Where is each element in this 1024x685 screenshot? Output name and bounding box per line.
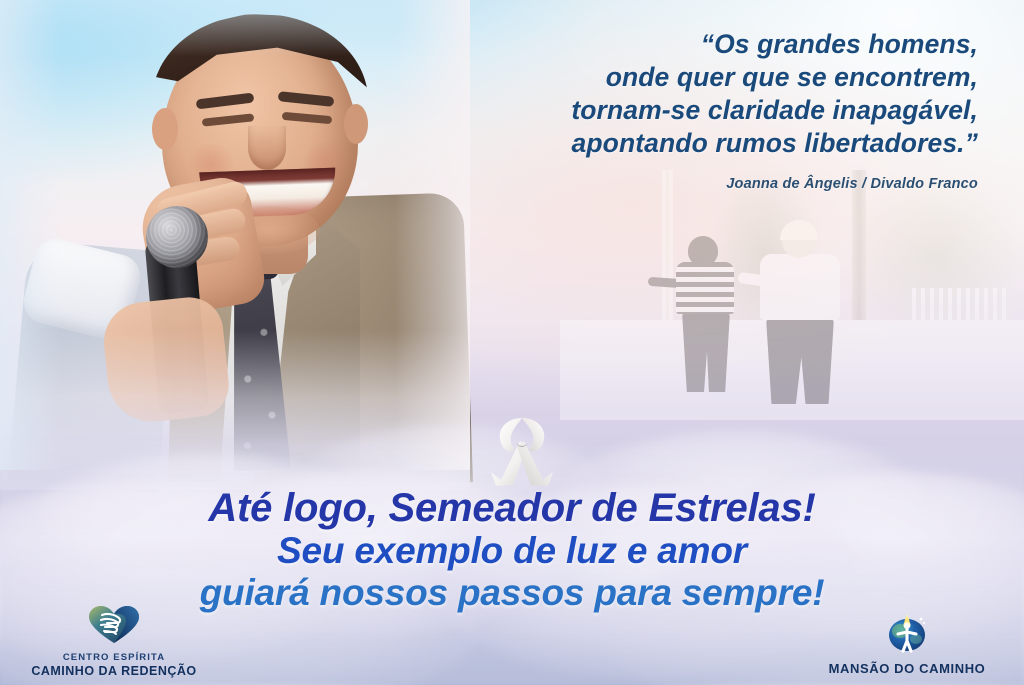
logo-centro-espirita-caminho-da-redencao[interactable]: CENTRO ESPÍRITA CAMINHO DA REDENÇÃO (14, 606, 214, 679)
headline-line-1: Até logo, Semeador de Estrelas! (0, 486, 1024, 530)
fence-icon (912, 288, 1010, 336)
white-ribbon-icon (489, 414, 555, 488)
logo-left-line-1: CENTRO ESPÍRITA (14, 652, 214, 664)
adult-figure-torso (760, 254, 840, 320)
quote-line-1: “Os grandes homens, (398, 28, 978, 61)
quote-line-4: apontando rumos libertadores.” (398, 127, 978, 160)
logo-mansao-do-caminho[interactable]: MANSÃO DO CAMINHO (802, 611, 1012, 677)
memorial-poster: “Os grandes homens, onde quer que se enc… (0, 0, 1024, 685)
globe-figure-icon (802, 611, 1012, 658)
quote-block: “Os grandes homens, onde quer que se enc… (398, 28, 978, 192)
quote-line-3: tornam-se claridade inapagável, (398, 94, 978, 127)
quote-line-2: onde quer que se encontrem, (398, 61, 978, 94)
logo-left-line-2: CAMINHO DA REDENÇÃO (14, 664, 214, 679)
quote-attribution: Joanna de Ângelis / Divaldo Franco (398, 176, 978, 192)
child-figure-torso (676, 262, 734, 314)
tree-trunk-icon (852, 170, 866, 326)
child-figure-head (688, 236, 718, 266)
headline-line-2: Seu exemplo de luz e amor (0, 530, 1024, 572)
lamp-post-icon (662, 170, 673, 326)
background-photo-two-people-walking (560, 170, 1024, 420)
headline-block: Até logo, Semeador de Estrelas! Seu exem… (0, 486, 1024, 614)
heart-hands-icon (14, 606, 214, 649)
logo-right-line-1: MANSÃO DO CAMINHO (802, 661, 1012, 677)
